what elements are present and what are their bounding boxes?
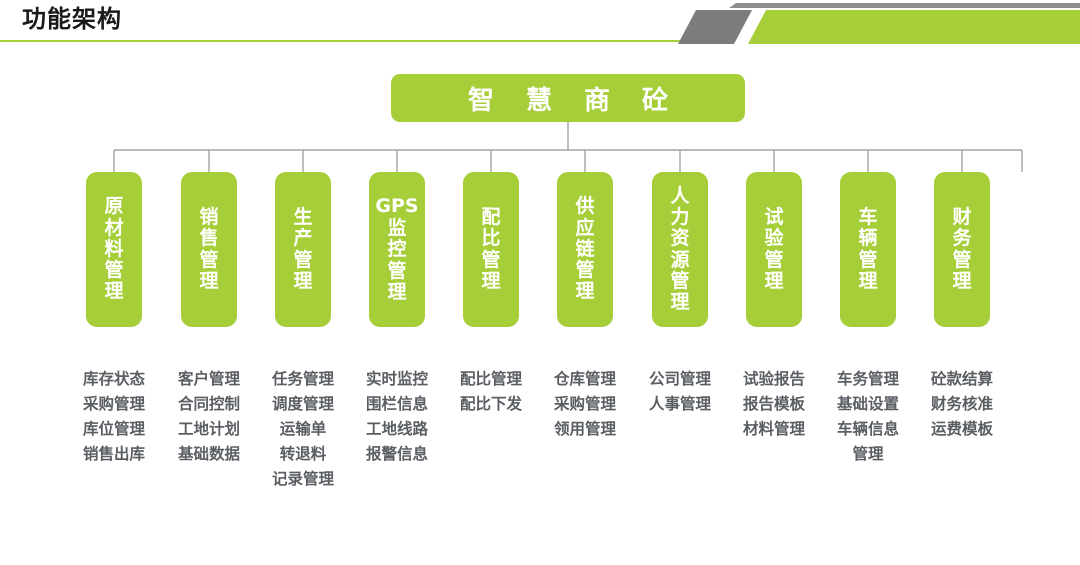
node-char: 管 bbox=[104, 260, 123, 281]
node-latin-label: GPS bbox=[375, 196, 418, 217]
node-box-testing[interactable]: 试 验 管 理 bbox=[746, 172, 802, 327]
node-char: 管 bbox=[670, 271, 689, 292]
node-char: 链 bbox=[575, 239, 594, 260]
node-char: 人 bbox=[670, 186, 689, 207]
node-char: 产 bbox=[293, 228, 312, 249]
root-node-label: 智慧商砼 bbox=[436, 80, 700, 117]
list-item[interactable]: 任务管理 bbox=[251, 367, 355, 392]
list-item[interactable]: 运输单 bbox=[251, 417, 355, 442]
node-char: 销 bbox=[199, 207, 218, 228]
list-item[interactable]: 领用管理 bbox=[533, 417, 637, 442]
function-architecture-diagram: 智慧商砼 原 材 料 管 理 库存状态 采购管理 库位管理 销售出库 销 售 bbox=[0, 0, 1080, 565]
node-char: 理 bbox=[858, 271, 877, 292]
node-char: 比 bbox=[481, 228, 500, 249]
sub-list-production: 任务管理 调度管理 运输单 转退料 记录管理 bbox=[251, 367, 355, 492]
list-item[interactable]: 采购管理 bbox=[533, 392, 637, 417]
node-box-human-resources[interactable]: 人 力 资 源 管 理 bbox=[652, 172, 708, 327]
root-node-smart-concrete[interactable]: 智慧商砼 bbox=[391, 74, 745, 122]
branch-production: 生 产 管 理 任务管理 调度管理 运输单 转退料 记录管理 bbox=[275, 172, 331, 327]
node-box-finance[interactable]: 财 务 管 理 bbox=[934, 172, 990, 327]
node-char: 理 bbox=[104, 281, 123, 302]
node-char: 财 bbox=[952, 207, 971, 228]
branch-vehicle: 车 辆 管 理 车务管理 基础设置 车辆信息 管理 bbox=[840, 172, 896, 327]
node-char: 试 bbox=[764, 207, 783, 228]
node-box-mix-ratio[interactable]: 配 比 管 理 bbox=[463, 172, 519, 327]
list-item[interactable]: 库位管理 bbox=[62, 417, 166, 442]
node-box-gps-monitoring[interactable]: GPS 监 控 管 理 bbox=[369, 172, 425, 327]
list-item[interactable]: 人事管理 bbox=[628, 392, 732, 417]
list-item[interactable]: 车务管理 bbox=[816, 367, 920, 392]
list-item[interactable]: 实时监控 bbox=[345, 367, 449, 392]
branch-raw-material: 原 材 料 管 理 库存状态 采购管理 库位管理 销售出库 bbox=[86, 172, 142, 327]
sub-list-raw-material: 库存状态 采购管理 库位管理 销售出库 bbox=[62, 367, 166, 467]
node-box-production[interactable]: 生 产 管 理 bbox=[275, 172, 331, 327]
node-char: 配 bbox=[481, 207, 500, 228]
branch-human-resources: 人 力 资 源 管 理 公司管理 人事管理 bbox=[652, 172, 708, 327]
list-item[interactable]: 合同控制 bbox=[157, 392, 261, 417]
node-char: 售 bbox=[199, 228, 218, 249]
list-item[interactable]: 工地线路 bbox=[345, 417, 449, 442]
node-box-raw-material[interactable]: 原 材 料 管 理 bbox=[86, 172, 142, 327]
list-item[interactable]: 报告模板 bbox=[722, 392, 826, 417]
node-char: 管 bbox=[764, 250, 783, 271]
list-item[interactable]: 公司管理 bbox=[628, 367, 732, 392]
node-char: 管 bbox=[293, 250, 312, 271]
node-char: 原 bbox=[104, 196, 123, 217]
list-item[interactable]: 基础数据 bbox=[157, 442, 261, 467]
branch-gps-monitoring: GPS 监 控 管 理 实时监控 围栏信息 工地线路 报警信息 bbox=[369, 172, 425, 327]
list-item[interactable]: 管理 bbox=[816, 442, 920, 467]
node-char: 材 bbox=[104, 218, 123, 239]
node-char: 理 bbox=[575, 281, 594, 302]
branch-supply-chain: 供 应 链 管 理 仓库管理 采购管理 领用管理 bbox=[557, 172, 613, 327]
node-char: 源 bbox=[670, 250, 689, 271]
node-char: 理 bbox=[481, 271, 500, 292]
branch-finance: 财 务 管 理 砼款结算 财务核准 运费模板 bbox=[934, 172, 990, 327]
node-char: 管 bbox=[387, 261, 406, 282]
node-char: 理 bbox=[764, 271, 783, 292]
sub-list-gps-monitoring: 实时监控 围栏信息 工地线路 报警信息 bbox=[345, 367, 449, 467]
list-item[interactable]: 库存状态 bbox=[62, 367, 166, 392]
list-item[interactable]: 客户管理 bbox=[157, 367, 261, 392]
list-item[interactable]: 配比下发 bbox=[439, 392, 543, 417]
node-char: 管 bbox=[199, 250, 218, 271]
node-char: 应 bbox=[575, 218, 594, 239]
list-item[interactable]: 砼款结算 bbox=[910, 367, 1014, 392]
branch-testing: 试 验 管 理 试验报告 报告模板 材料管理 bbox=[746, 172, 802, 327]
list-item[interactable]: 报警信息 bbox=[345, 442, 449, 467]
list-item[interactable]: 围栏信息 bbox=[345, 392, 449, 417]
list-item[interactable]: 材料管理 bbox=[722, 417, 826, 442]
list-item[interactable]: 基础设置 bbox=[816, 392, 920, 417]
node-char: 理 bbox=[293, 271, 312, 292]
sub-list-human-resources: 公司管理 人事管理 bbox=[628, 367, 732, 417]
node-char: 管 bbox=[575, 260, 594, 281]
node-char: 车 bbox=[858, 207, 877, 228]
node-char: 力 bbox=[670, 207, 689, 228]
node-char: 辆 bbox=[858, 228, 877, 249]
sub-list-sales: 客户管理 合同控制 工地计划 基础数据 bbox=[157, 367, 261, 467]
node-char: 理 bbox=[952, 271, 971, 292]
node-char: 验 bbox=[764, 228, 783, 249]
list-item[interactable]: 试验报告 bbox=[722, 367, 826, 392]
node-char: 管 bbox=[481, 250, 500, 271]
node-char: 控 bbox=[387, 239, 406, 260]
node-char: 理 bbox=[670, 292, 689, 313]
node-char: 生 bbox=[293, 207, 312, 228]
node-box-sales[interactable]: 销 售 管 理 bbox=[181, 172, 237, 327]
node-char: 理 bbox=[199, 271, 218, 292]
list-item[interactable]: 记录管理 bbox=[251, 467, 355, 492]
branch-mix-ratio: 配 比 管 理 配比管理 配比下发 bbox=[463, 172, 519, 327]
sub-list-finance: 砼款结算 财务核准 运费模板 bbox=[910, 367, 1014, 442]
list-item[interactable]: 转退料 bbox=[251, 442, 355, 467]
list-item[interactable]: 工地计划 bbox=[157, 417, 261, 442]
node-char: 管 bbox=[952, 250, 971, 271]
node-char: 理 bbox=[387, 282, 406, 303]
branch-sales: 销 售 管 理 客户管理 合同控制 工地计划 基础数据 bbox=[181, 172, 237, 327]
list-item[interactable]: 采购管理 bbox=[62, 392, 166, 417]
node-char: 务 bbox=[952, 228, 971, 249]
list-item[interactable]: 车辆信息 bbox=[816, 417, 920, 442]
node-char: 资 bbox=[670, 228, 689, 249]
list-item[interactable]: 仓库管理 bbox=[533, 367, 637, 392]
list-item[interactable]: 财务核准 bbox=[910, 392, 1014, 417]
node-char: 监 bbox=[387, 218, 406, 239]
sub-list-testing: 试验报告 报告模板 材料管理 bbox=[722, 367, 826, 442]
node-box-vehicle[interactable]: 车 辆 管 理 bbox=[840, 172, 896, 327]
sub-list-vehicle: 车务管理 基础设置 车辆信息 管理 bbox=[816, 367, 920, 467]
list-item[interactable]: 运费模板 bbox=[910, 417, 1014, 442]
list-item[interactable]: 销售出库 bbox=[62, 442, 166, 467]
sub-list-mix-ratio: 配比管理 配比下发 bbox=[439, 367, 543, 417]
node-char: 管 bbox=[858, 250, 877, 271]
node-char: 供 bbox=[575, 196, 594, 217]
node-char: 料 bbox=[104, 239, 123, 260]
list-item[interactable]: 配比管理 bbox=[439, 367, 543, 392]
list-item[interactable]: 调度管理 bbox=[251, 392, 355, 417]
sub-list-supply-chain: 仓库管理 采购管理 领用管理 bbox=[533, 367, 637, 442]
node-box-supply-chain[interactable]: 供 应 链 管 理 bbox=[557, 172, 613, 327]
